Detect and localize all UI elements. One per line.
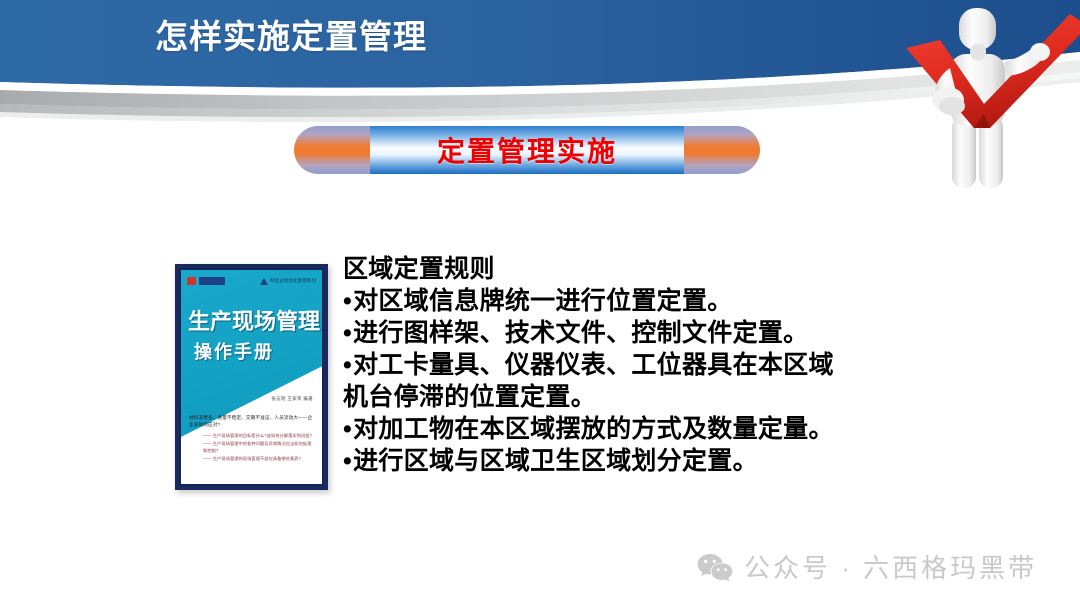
bullet-dot-icon: • (343, 287, 352, 315)
content-text-block: 区域定置规则 •对区域信息牌统一进行位置定置。•进行图样架、技术文件、控制文件定… (343, 253, 943, 477)
content-line-text: 对加工物在本区域摆放的方式及数量定量。 (353, 415, 834, 443)
book-series-text: 制造业现场化管理系列 (270, 278, 316, 284)
mannequin-with-checkmark-icon (900, 0, 1080, 206)
book-author-line: 张志明 王家荣 编著 (271, 396, 313, 402)
bullet-dot-icon: • (343, 415, 352, 443)
bullet-dot-icon: • (343, 319, 352, 347)
book-title-main: 生产现场管理 (188, 304, 320, 336)
book-title-sub: 操作手册 (194, 338, 274, 364)
book-bullet-line: —— 生产现场管理的目标是什么?该如何分解落实到班组? (203, 432, 314, 440)
book-series-badge: 制造业现场化管理系列 (260, 278, 316, 285)
publisher-red-mark (187, 277, 196, 285)
bullet-dot-icon: • (343, 351, 352, 379)
slide-canvas: 怎样实施定置管理 (0, 0, 1080, 608)
content-rule-lines: •对区域信息牌统一进行位置定置。•进行图样架、技术文件、控制文件定置。•对工卡量… (343, 285, 943, 477)
book-bullet-list: —— 生产现场管理的目标是什么?该如何分解落实到班组?—— 生产现场管理中的各种… (203, 432, 314, 462)
wechat-icon (697, 552, 733, 582)
content-continuation-line: 机台停滞的位置定置。 (343, 381, 943, 413)
content-line-text: 机台停滞的位置定置。 (343, 383, 596, 411)
content-line-text: 进行区域与区域卫生区域划分定置。 (353, 447, 758, 475)
red-check-icon (906, 14, 1080, 128)
page-title: 怎样实施定置管理 (155, 14, 575, 60)
book-cover-image: 制造业现场化管理系列 生产现场管理 操作手册 张志明 王家荣 编著 材料浪费多、… (175, 264, 328, 490)
header-gray-swoosh (0, 60, 1080, 109)
footer-watermark-text: 公众号 · 六西格玛黑带 (744, 548, 1037, 585)
publisher-blue-mark (199, 277, 225, 285)
header-swoosh-tail (0, 78, 1080, 122)
content-line-text: 对工卡量具、仪器仪表、工位器具在本区域 (353, 351, 834, 379)
content-heading: 区域定置规则 (343, 253, 943, 285)
content-bullet-line: •对区域信息牌统一进行位置定置。 (343, 285, 943, 317)
section-banner: 定置管理实施 (294, 126, 760, 174)
section-banner-label: 定置管理实施 (294, 126, 760, 174)
footer-watermark: 公众号 · 六西格玛黑带 (697, 548, 1037, 585)
book-blurb-text: 材料浪费多、质量不稳定、交期不准证、人员流动大——企业该如何应对? (189, 414, 315, 428)
book-bullet-line: —— 生产现场管理中的各种问题及异常情况应当如何处理和控制? (203, 440, 314, 455)
content-line-text: 对区域信息牌统一进行位置定置。 (353, 287, 733, 315)
content-bullet-line: •进行图样架、技术文件、控制文件定置。 (343, 317, 943, 349)
content-line-text: 进行图样架、技术文件、控制文件定置。 (353, 319, 808, 347)
content-bullet-line: •进行区域与区域卫生区域划分定置。 (343, 445, 943, 477)
bullet-dot-icon: • (343, 447, 352, 475)
content-bullet-line: •对工卡量具、仪器仪表、工位器具在本区域 (343, 349, 943, 381)
book-bullet-line: —— 生产现场管理的现场管理干部应具备哪些素养? (203, 455, 314, 463)
book-publisher-marks: 制造业现场化管理系列 (187, 276, 316, 286)
content-bullet-line: •对加工物在本区域摆放的方式及数量定量。 (343, 413, 943, 445)
series-triangle-icon (260, 278, 268, 285)
header-gray-swoosh-shadow (0, 72, 1080, 117)
